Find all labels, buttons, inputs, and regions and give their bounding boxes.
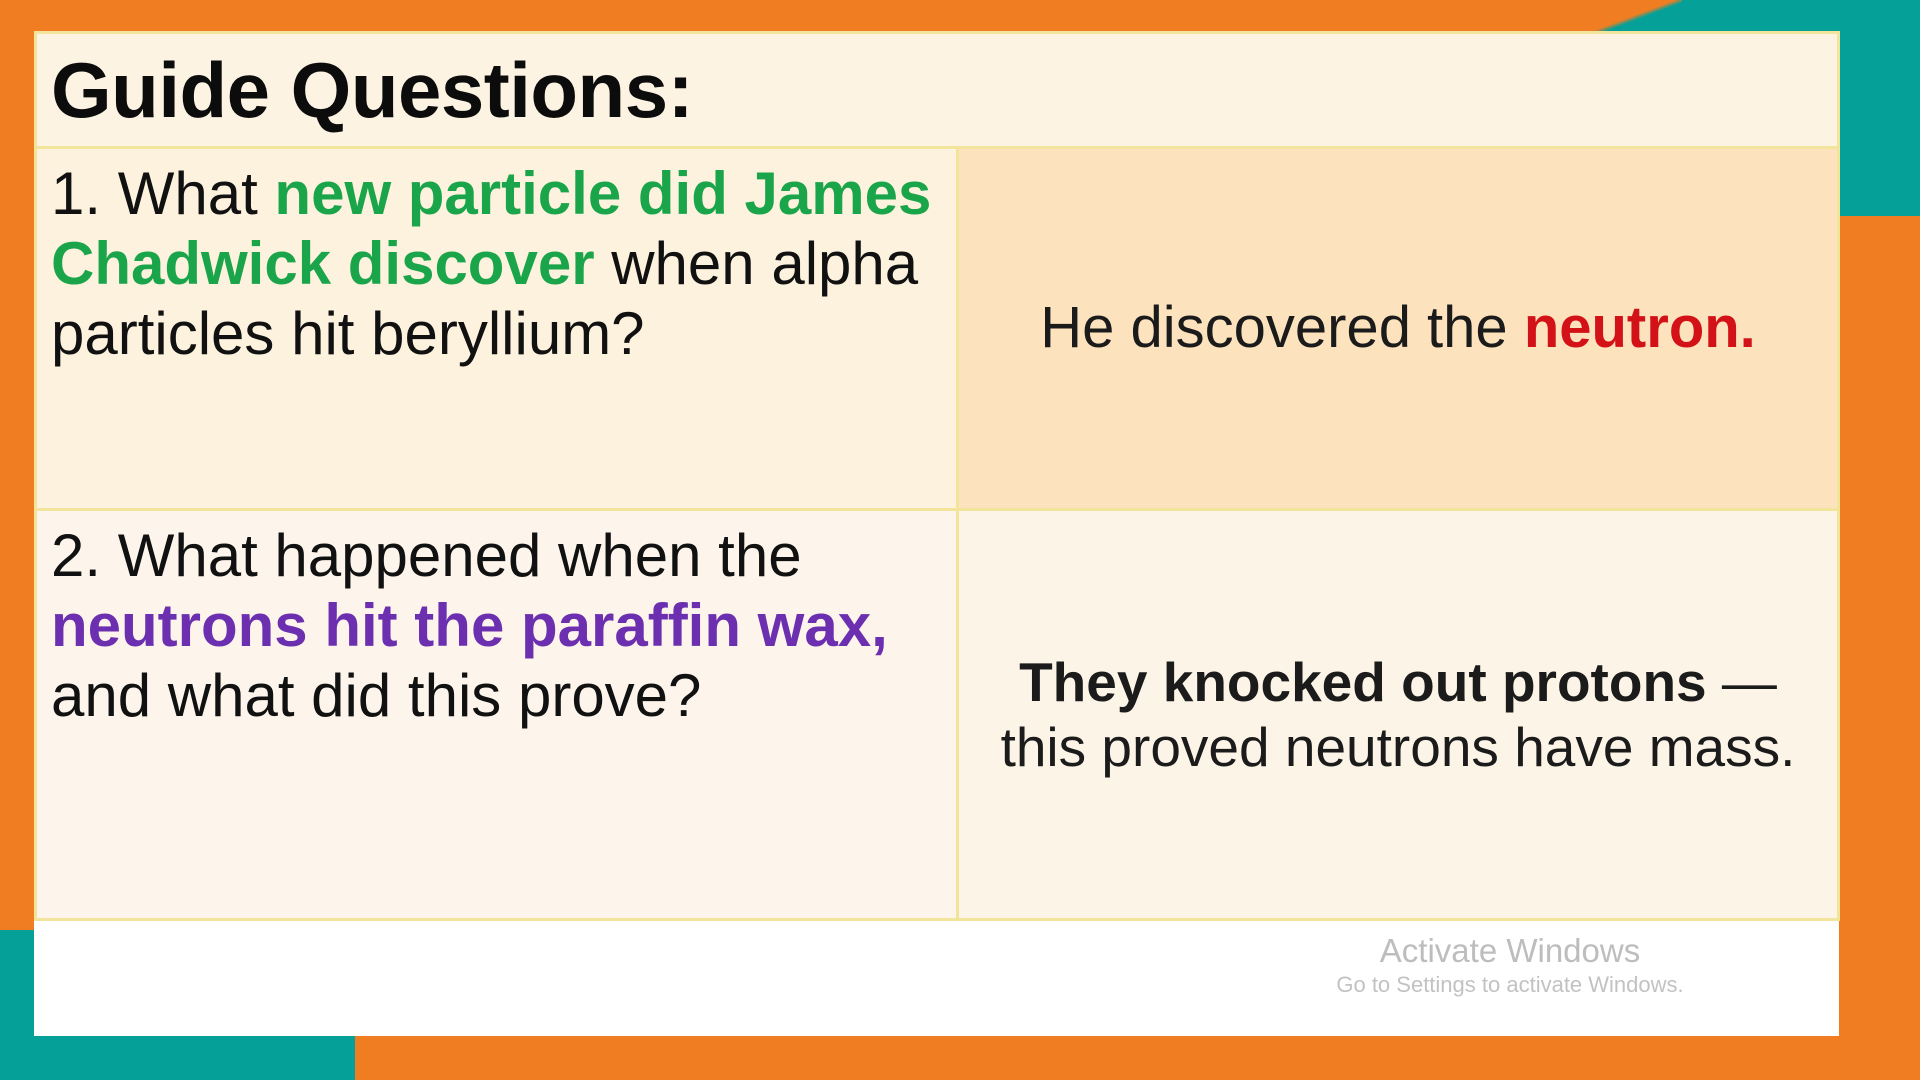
answer-cell-1: He discovered the neutron.	[959, 149, 1837, 508]
question-2-seg-1: neutrons hit the paraffin wax,	[51, 592, 888, 659]
guide-questions-table: Guide Questions: 1. What new particle di…	[34, 31, 1840, 921]
question-2-seg-0: 2. What happened when the	[51, 522, 802, 589]
answer-1-seg-0: He discovered the	[1040, 295, 1524, 360]
question-cell-1: 1. What new particle did James Chadwick …	[37, 149, 959, 508]
decor-diagonal-orange-teal	[1592, 0, 1682, 34]
answer-text-2: They knocked out protons — this proved n…	[999, 650, 1797, 780]
question-text-1: 1. What new particle did James Chadwick …	[51, 159, 934, 370]
table-header-row: Guide Questions:	[37, 34, 1837, 149]
page-title: Guide Questions:	[51, 51, 693, 129]
question-cell-2: 2. What happened when the neutrons hit t…	[37, 511, 959, 918]
decor-band-orange-left	[0, 0, 34, 935]
decor-band-orange-right	[1839, 216, 1920, 1080]
table-row: 1. What new particle did James Chadwick …	[37, 149, 1837, 511]
slide-footer-area	[34, 920, 1839, 1036]
answer-2-seg-0: They knocked out protons	[1019, 651, 1707, 713]
answer-cell-2: They knocked out protons — this proved n…	[959, 511, 1837, 918]
decor-band-orange-bottom	[355, 1035, 1920, 1080]
question-1-seg-0: 1. What	[51, 160, 274, 227]
answer-text-1: He discovered the neutron.	[999, 294, 1797, 362]
slide-canvas: Guide Questions: 1. What new particle di…	[0, 0, 1920, 1080]
answer-1-seg-1: neutron.	[1524, 295, 1756, 360]
question-2-seg-2: and what did this prove?	[51, 662, 701, 729]
table-row: 2. What happened when the neutrons hit t…	[37, 511, 1837, 918]
question-text-2: 2. What happened when the neutrons hit t…	[51, 521, 934, 732]
